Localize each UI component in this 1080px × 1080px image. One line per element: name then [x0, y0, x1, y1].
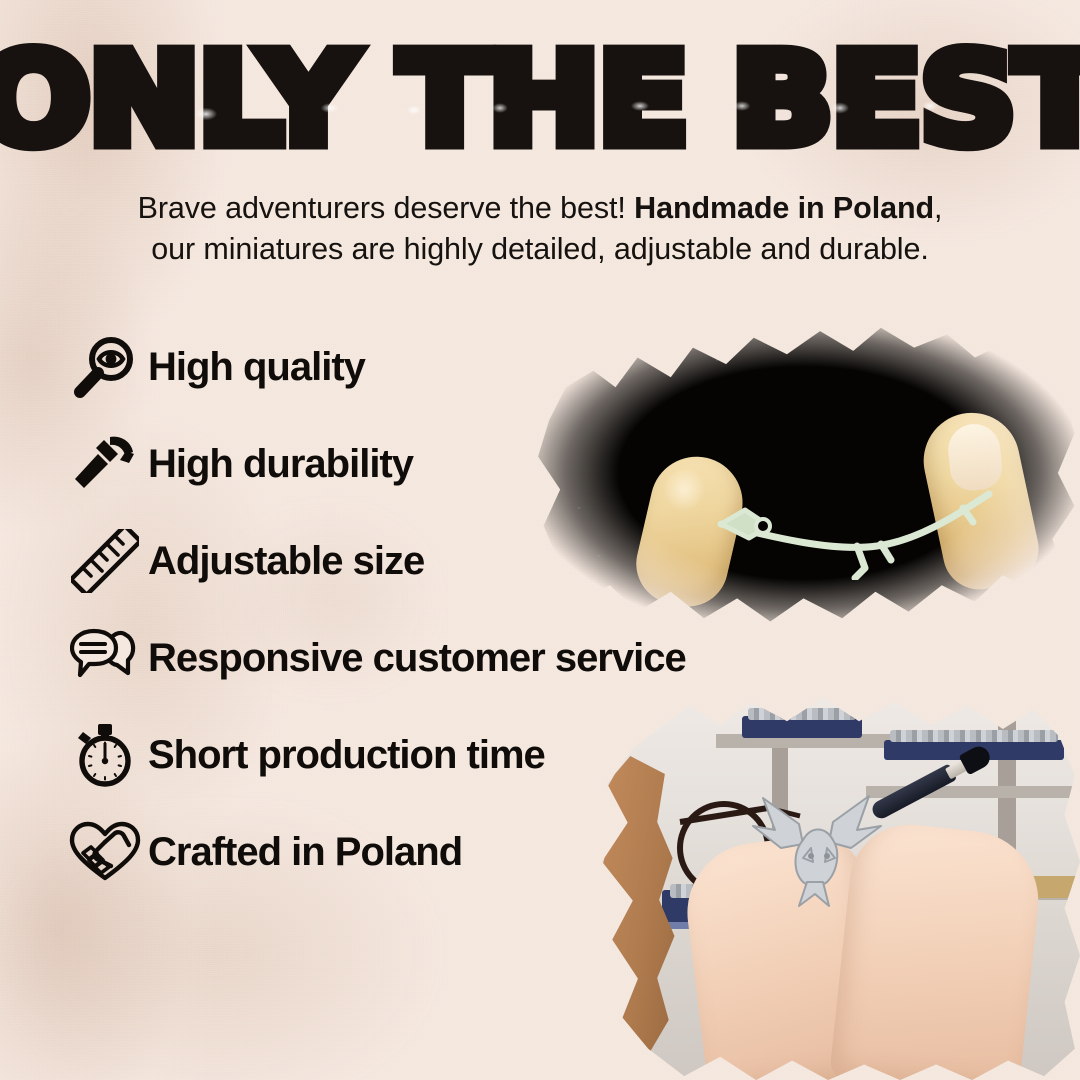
painting-dragon-miniature-photo [566, 690, 1080, 1080]
subtitle-emphasis: Handmade in Poland [634, 191, 934, 225]
feature-item-high-durability: High durability [62, 427, 782, 501]
ruler-icon [62, 527, 148, 595]
photo-torn-mask [566, 690, 1080, 1080]
subtitle-comma: , [934, 191, 942, 225]
feature-item-responsive-customer-service: Responsive customer service [62, 621, 782, 695]
speech-bubbles-icon [62, 624, 148, 692]
feature-item-adjustable-size: Adjustable size [62, 524, 782, 598]
subtitle: Brave adventurers deserve the best! Hand… [60, 188, 1020, 269]
feature-label: Adjustable size [148, 539, 424, 584]
page-title: ONLY THE BEST [0, 36, 1080, 165]
magnifier-eye-icon [62, 333, 148, 401]
feature-label: Responsive customer service [148, 636, 686, 681]
handshake-heart-icon [62, 818, 148, 886]
stopwatch-icon [62, 721, 148, 789]
subtitle-lead: Brave adventurers deserve the best! [138, 191, 635, 225]
subtitle-line-2: our miniatures are highly detailed, adju… [151, 232, 928, 266]
feature-label: Short production time [148, 733, 545, 778]
miniatures-on-tray [748, 708, 856, 720]
feature-label: High durability [148, 442, 413, 487]
feature-item-high-quality: High quality [62, 330, 782, 404]
hammer-icon [62, 430, 148, 498]
feature-label: High quality [148, 345, 365, 390]
promo-poster: ONLY THE BEST Brave adventurers deserve … [0, 0, 1080, 1080]
feature-label: Crafted in Poland [148, 830, 462, 875]
miniatures-on-tray [890, 730, 1058, 742]
